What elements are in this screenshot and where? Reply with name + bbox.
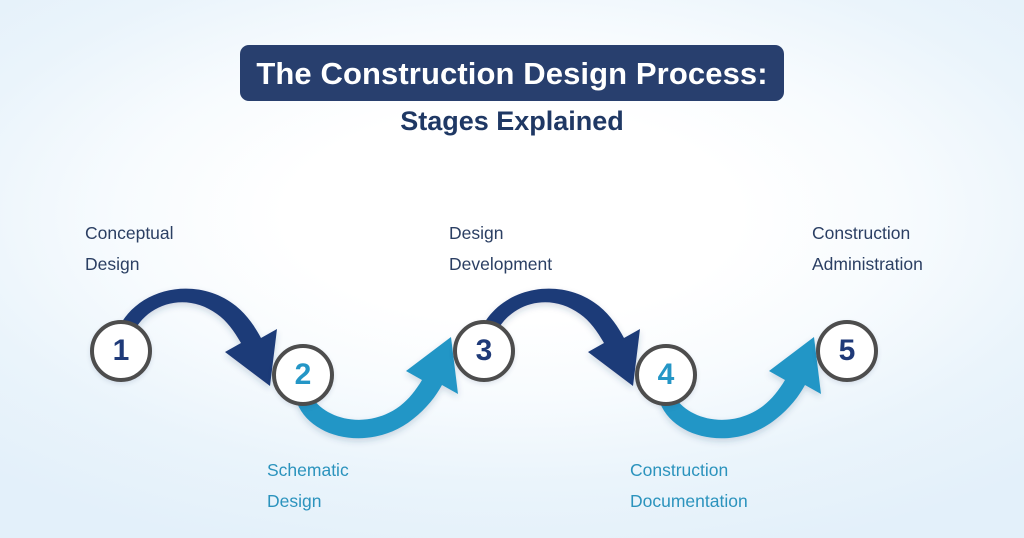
stage-label-3-line2: Development — [449, 249, 552, 280]
stage-label-3: Design Development — [449, 218, 552, 280]
step-number-2: 2 — [295, 360, 312, 390]
stage-label-2: Schematic Design — [267, 455, 349, 517]
infographic-canvas: The Construction Design Process: Stages … — [0, 0, 1024, 538]
step-number-4: 4 — [658, 360, 675, 390]
step-circle-4[interactable]: 4 — [635, 344, 697, 406]
step-circle-1[interactable]: 1 — [90, 320, 152, 382]
step-circle-2[interactable]: 2 — [272, 344, 334, 406]
stage-label-1-line1: Conceptual — [85, 218, 174, 249]
stage-label-2-line2: Design — [267, 486, 349, 517]
stage-label-5-line2: Administration — [812, 249, 923, 280]
stage-label-5: Construction Administration — [812, 218, 923, 280]
step-circle-5[interactable]: 5 — [816, 320, 878, 382]
step-number-3: 3 — [476, 336, 493, 366]
stage-label-3-line1: Design — [449, 218, 552, 249]
stage-label-1-line2: Design — [85, 249, 174, 280]
stage-label-5-line1: Construction — [812, 218, 923, 249]
stage-label-2-line1: Schematic — [267, 455, 349, 486]
step-circle-3[interactable]: 3 — [453, 320, 515, 382]
step-number-1: 1 — [113, 336, 130, 366]
stage-label-1: Conceptual Design — [85, 218, 174, 280]
stage-label-4-line1: Construction — [630, 455, 748, 486]
stage-label-4-line2: Documentation — [630, 486, 748, 517]
stage-label-4: Construction Documentation — [630, 455, 748, 517]
step-number-5: 5 — [839, 336, 856, 366]
